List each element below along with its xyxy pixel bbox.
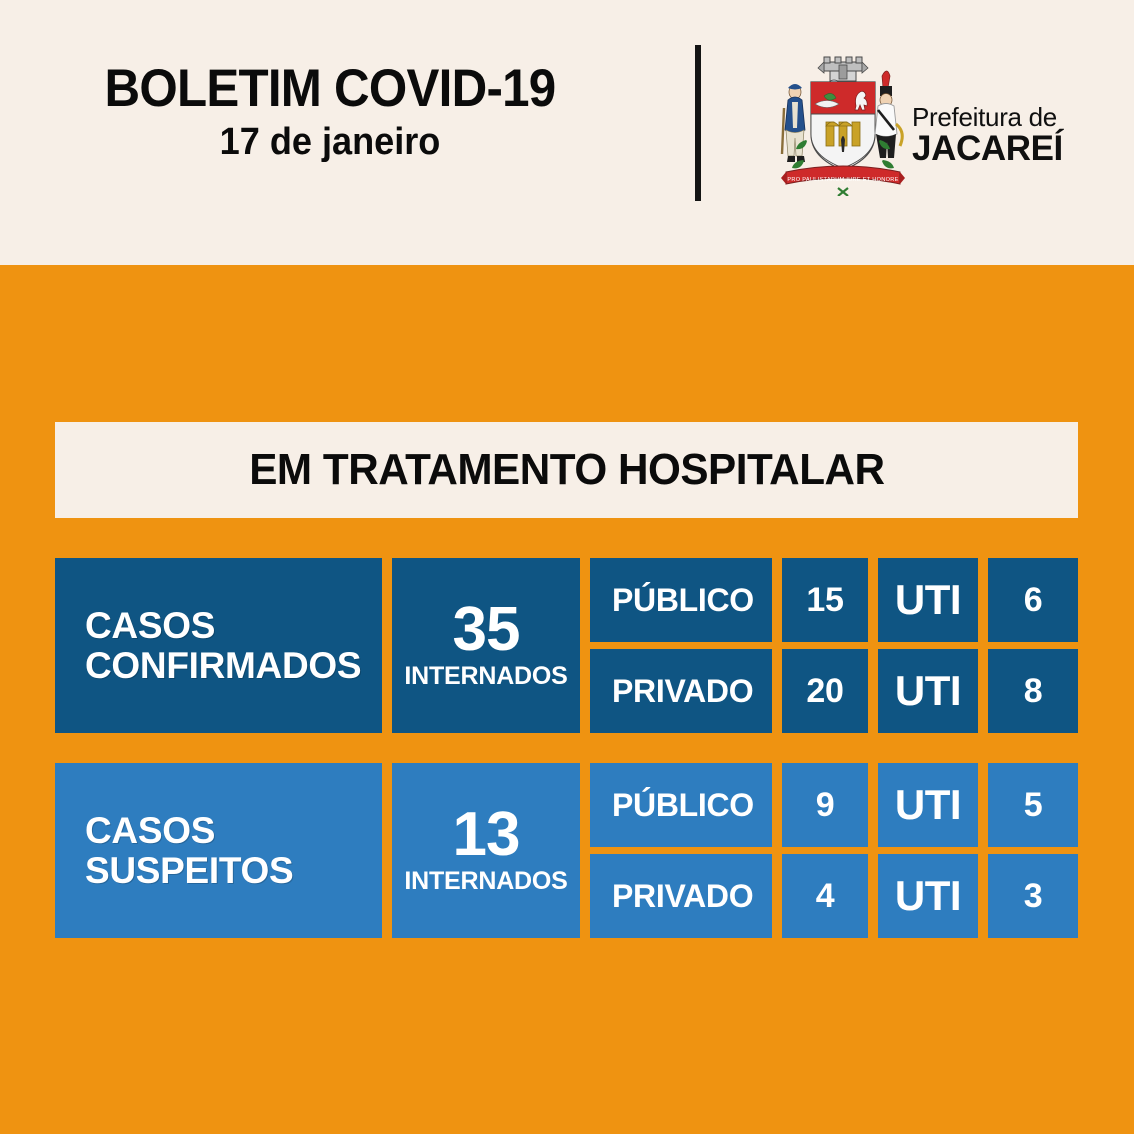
stats-row-confirmed: CASOS CONFIRMADOS 35 INTERNADOS PÚBLICO … bbox=[55, 558, 1078, 733]
sector-label: PRIVADO bbox=[612, 878, 753, 915]
category-label: CASOS SUSPEITOS bbox=[85, 811, 293, 891]
sector-label: PÚBLICO bbox=[612, 582, 754, 619]
category-label: CASOS CONFIRMADOS bbox=[85, 606, 361, 686]
sector-label: PRIVADO bbox=[612, 673, 753, 710]
stats-row-suspected: CASOS SUSPEITOS 13 INTERNADOS PÚBLICO 9 … bbox=[55, 763, 1078, 938]
sector-label-cell: PÚBLICO bbox=[590, 763, 772, 847]
total-admitted-cell: 13 INTERNADOS bbox=[392, 763, 580, 938]
brand-text: Prefeitura de JACAREÍ bbox=[912, 104, 1102, 168]
uti-label: UTI bbox=[895, 781, 961, 829]
vertical-divider-icon bbox=[695, 45, 701, 201]
section-banner: EM TRATAMENTO HOSPITALAR bbox=[55, 422, 1078, 518]
brand-prefeitura-label: Prefeitura de bbox=[912, 104, 1102, 131]
sector-count-value: 9 bbox=[816, 786, 835, 825]
bulletin-date: 17 de janeiro bbox=[17, 121, 644, 165]
uti-count-value: 6 bbox=[1024, 581, 1043, 620]
uti-count-cell: 6 bbox=[988, 558, 1078, 642]
sector-count-cell: 15 bbox=[782, 558, 868, 642]
sector-count-cell: 9 bbox=[782, 763, 868, 847]
brand-block: PRO PAULISTARUM IURE ET HONORE Prefeitur… bbox=[760, 48, 1100, 198]
sector-label-cell: PRIVADO bbox=[590, 649, 772, 733]
poster-header: BOLETIM COVID-19 17 de janeiro bbox=[0, 0, 1134, 265]
uti-count-cell: 5 bbox=[988, 763, 1078, 847]
uti-count-value: 5 bbox=[1024, 786, 1043, 825]
page-title: BOLETIM COVID-19 bbox=[23, 62, 637, 117]
sector-count-cell: 4 bbox=[782, 854, 868, 938]
total-admitted-value: 13 bbox=[453, 805, 520, 866]
crest-motto-text: PRO PAULISTARUM IURE ET HONORE bbox=[787, 177, 898, 183]
uti-label: UTI bbox=[895, 872, 961, 920]
uti-label: UTI bbox=[895, 667, 961, 715]
sector-count-value: 20 bbox=[806, 672, 843, 711]
total-admitted-cell: 35 INTERNADOS bbox=[392, 558, 580, 733]
uti-count-cell: 8 bbox=[988, 649, 1078, 733]
sector-count-value: 4 bbox=[816, 877, 835, 916]
brand-city-label: JACAREÍ bbox=[912, 131, 1102, 168]
uti-label: UTI bbox=[895, 576, 961, 624]
jacarei-coat-of-arms-icon: PRO PAULISTARUM IURE ET HONORE bbox=[778, 48, 908, 196]
section-title: EM TRATAMENTO HOSPITALAR bbox=[249, 445, 884, 495]
sector-label-cell: PÚBLICO bbox=[590, 558, 772, 642]
sector-count-cell: 20 bbox=[782, 649, 868, 733]
sector-label: PÚBLICO bbox=[612, 787, 754, 824]
total-admitted-caption: INTERNADOS bbox=[404, 868, 567, 896]
uti-count-value: 3 bbox=[1024, 877, 1043, 916]
total-admitted-caption: INTERNADOS bbox=[404, 663, 567, 691]
sector-count-value: 15 bbox=[806, 581, 843, 620]
uti-label-cell: UTI bbox=[878, 763, 978, 847]
uti-label-cell: UTI bbox=[878, 649, 978, 733]
header-title-block: BOLETIM COVID-19 17 de janeiro bbox=[0, 62, 660, 164]
covid-bulletin-poster: BOLETIM COVID-19 17 de janeiro bbox=[0, 0, 1134, 1134]
category-label-cell: CASOS CONFIRMADOS bbox=[55, 558, 382, 733]
uti-count-cell: 3 bbox=[988, 854, 1078, 938]
category-label-cell: CASOS SUSPEITOS bbox=[55, 763, 382, 938]
sector-label-cell: PRIVADO bbox=[590, 854, 772, 938]
uti-label-cell: UTI bbox=[878, 558, 978, 642]
uti-count-value: 8 bbox=[1024, 672, 1043, 711]
total-admitted-value: 35 bbox=[453, 600, 520, 661]
uti-label-cell: UTI bbox=[878, 854, 978, 938]
